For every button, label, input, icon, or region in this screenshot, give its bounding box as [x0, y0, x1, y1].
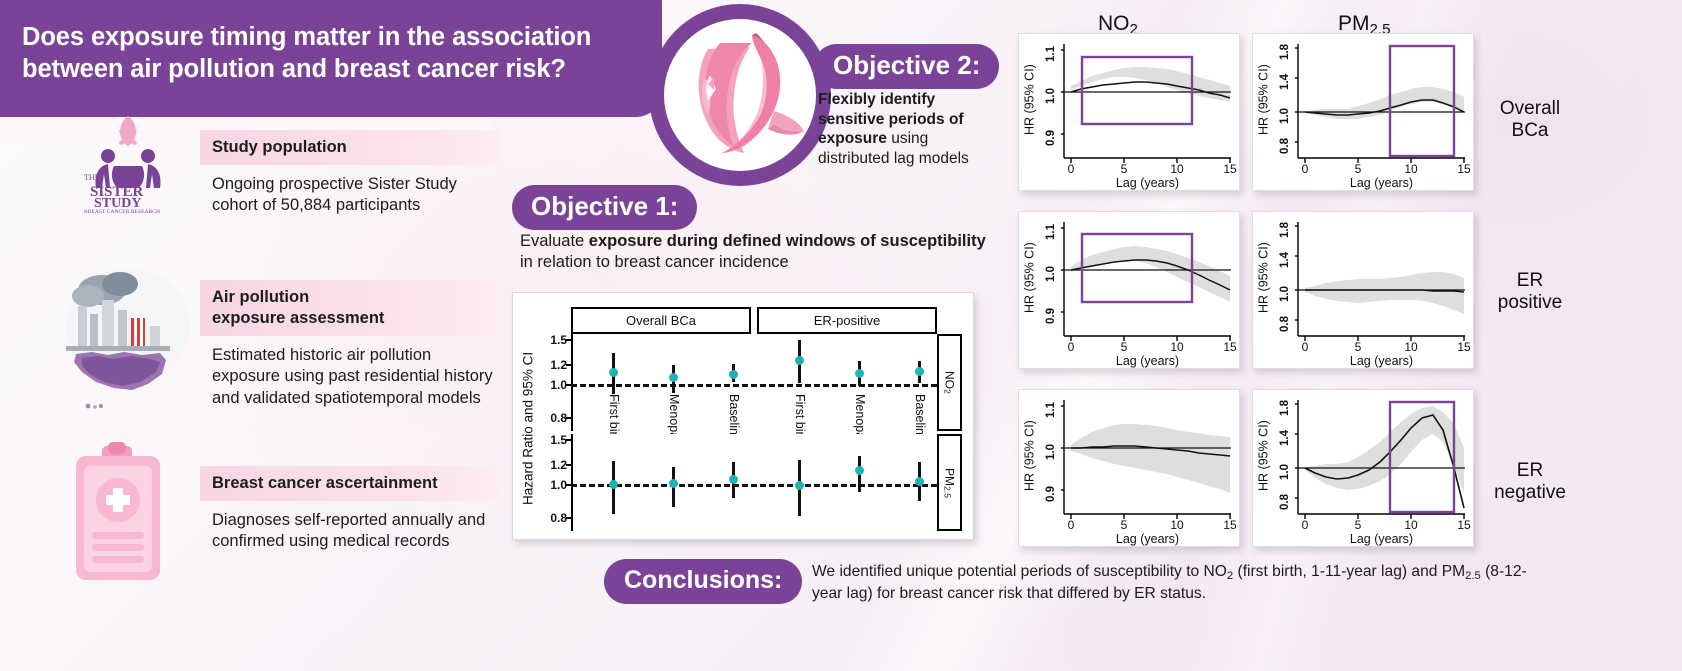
forest-strip-no2-label: NO2 [942, 371, 956, 394]
conclusions-part-b: (first birth, 1-11-year lag) and PM [1233, 563, 1465, 580]
dlnm-xtick-pm25-erpos-5: 5 [1347, 340, 1369, 354]
forest-panel-no2: 1.5 1.2 1.0 0.8 First birth Menopause Ba… [571, 334, 937, 431]
dlnm-xtick-no2-overall-15: 15 [1219, 162, 1241, 176]
dlnm-xtick-no2-erneg-15: 15 [1219, 518, 1241, 532]
page-title-line2: between air pollution and breast cancer … [22, 53, 662, 85]
dlnm-xtick-no2-overall-5: 5 [1113, 162, 1135, 176]
forest-ytick-1-2: 1.2 [537, 358, 567, 372]
forest-point-no2-overall-firstbirth [609, 368, 618, 377]
forest-point-pm25-erpos-baseline [915, 477, 924, 486]
conclusions-pill: Conclusions: [604, 559, 802, 604]
dlnm-xtick-no2-erpos-15: 15 [1219, 340, 1241, 354]
forest-strip-erpos: ER-positive [757, 307, 937, 334]
objective-1-text: Evaluate exposure during defined windows… [520, 231, 990, 274]
dlnm-xtick-pm25-erneg-0: 0 [1294, 518, 1316, 532]
section-body-ascertainment: Diagnoses self-reported annually and con… [200, 501, 500, 553]
dlnm-xlabel-no2-overall: Lag (years) [1064, 176, 1231, 190]
dlnm-panel-pm25-overall: HR (95% CI) 1.8 1.4 1.0 0.8 0 5 10 15 La… [1252, 33, 1474, 191]
dlnm-xlabel-pm25-overall: Lag (years) [1298, 176, 1465, 190]
forest-point-no2-overall-menopause [669, 373, 678, 382]
dlnm-xtick-pm25-erneg-5: 5 [1347, 518, 1369, 532]
medical-clipboard-icon [62, 440, 194, 590]
sister-study-text-3: BREAST CANCER RESEARCH [84, 209, 160, 214]
forest-ytick2-1-2: 1.2 [537, 458, 567, 472]
forest-ytick-0-8: 0.8 [537, 411, 567, 425]
sister-study-text-top: THE [84, 173, 100, 182]
dlnm-xtick-no2-overall-0: 0 [1060, 162, 1082, 176]
objective-1-bold: exposure during defined windows of susce… [589, 232, 986, 250]
objective-2-text: Flexibly identify sensitive periods of e… [818, 90, 1004, 168]
study-section-population: Study population Ongoing prospective Sis… [200, 130, 500, 217]
dlnm-xlabel-no2-erpos: Lag (years) [1064, 354, 1231, 368]
conclusions-part-a: We identified unique potential periods o… [812, 563, 1227, 580]
conclusions-text: We identified unique potential periods o… [812, 562, 1552, 604]
dlnm-xtick-pm25-overall-10: 10 [1400, 162, 1422, 176]
conclusions-sub-pm25: 2.5 [1465, 570, 1481, 582]
forest-plot-card: Hazard Ratio and 95% CI Overall BCa ER-p… [512, 292, 974, 540]
section-heading-population: Study population [200, 130, 500, 165]
forest-reference-line-no2 [571, 384, 937, 387]
forest-strip-no2: NO2 [937, 334, 962, 431]
section-heading-exposure: Air pollution exposure assessment [200, 280, 500, 336]
dlnm-panel-pm25-erneg: HR (95% CI) 1.8 1.4 1.0 0.8 0 5 10 15 La… [1252, 389, 1474, 547]
forest-point-no2-erpos-baseline [915, 367, 924, 376]
forest-panel-pm25: 1.5 1.2 1.0 0.8 [571, 434, 937, 531]
section-heading-exposure-line1: Air pollution [212, 287, 500, 308]
dlnm-xtick-no2-erpos-5: 5 [1113, 340, 1135, 354]
dlnm-xtick-pm25-erneg-10: 10 [1400, 518, 1422, 532]
forest-strip-pm25: PM2.5 [937, 434, 962, 531]
forest-point-pm25-erpos-menopause [855, 466, 864, 475]
forest-point-no2-erpos-firstbirth [795, 356, 804, 365]
dlnm-xtick-pm25-erpos-0: 0 [1294, 340, 1316, 354]
dlnm-panel-no2-overall: HR (95% CI) 1.1 1.0 0.9 0 5 10 15 Lag (y… [1018, 33, 1240, 191]
section-body-exposure: Estimated historic air pollution exposur… [200, 336, 500, 410]
dlnm-xtick-no2-erpos-0: 0 [1060, 340, 1082, 354]
forest-strip-pm25-label: PM2.5 [942, 468, 956, 498]
dlnm-xtick-pm25-erpos-10: 10 [1400, 340, 1422, 354]
objective-2-pill: Objective 2: [814, 44, 999, 89]
forest-ytick2-0-8: 0.8 [537, 511, 567, 525]
sister-study-logo-svg: THE SISTER STUDY BREAST CANCER RESEARCH [62, 108, 194, 214]
objective-1-pill: Objective 1: [512, 185, 697, 230]
dlnm-panel-no2-erneg: HR (95% CI) 1.1 1.0 0.9 0 5 10 15 Lag (y… [1018, 389, 1240, 547]
dlnm-panel-pm25-erpos: HR (95% CI) 1.8 1.4 1.0 0.8 0 5 10 15 La… [1252, 211, 1474, 369]
sister-study-logo: THE SISTER STUDY BREAST CANCER RESEARCH [62, 108, 194, 214]
forest-y-axis-label: Hazard Ratio and 95% CI [519, 323, 537, 533]
objective-1-pre: Evaluate [520, 232, 589, 250]
forest-point-pm25-erpos-firstbirth [795, 481, 804, 490]
study-section-exposure: Air pollution exposure assessment Estima… [200, 280, 500, 409]
forest-point-pm25-overall-firstbirth [609, 480, 618, 489]
air-pollution-icon-svg [62, 256, 212, 416]
section-heading-ascertainment: Breast cancer ascertainment [200, 466, 500, 501]
dlnm-xtick-pm25-overall-5: 5 [1347, 162, 1369, 176]
dlnm-xtick-pm25-erneg-15: 15 [1453, 518, 1475, 532]
header-banner: Does exposure timing matter in the assoc… [0, 0, 662, 117]
dlnm-xtick-no2-overall-10: 10 [1166, 162, 1188, 176]
dlnm-panel-no2-erpos: HR (95% CI) 1.1 1.0 0.9 0 5 10 15 Lag (y… [1018, 211, 1240, 369]
dlnm-row-label-overall: OverallBCa [1482, 98, 1578, 143]
factory-smokestack-usmap-icon [62, 256, 194, 416]
forest-point-no2-erpos-menopause [855, 369, 864, 378]
dlnm-row-label-erneg: ERnegative [1482, 460, 1578, 505]
forest-point-no2-overall-baseline [729, 370, 738, 379]
study-section-ascertainment: Breast cancer ascertainment Diagnoses se… [200, 466, 500, 553]
clipboard-icon-svg [62, 440, 184, 590]
section-body-population: Ongoing prospective Sister Study cohort … [200, 165, 500, 217]
ribbon-woman-svg [664, 19, 816, 171]
forest-ytick2-1-5: 1.5 [537, 433, 567, 447]
dlnm-xtick-no2-erpos-10: 10 [1166, 340, 1188, 354]
forest-strip-overall: Overall BCa [571, 307, 751, 334]
dlnm-xtick-pm25-overall-0: 0 [1294, 162, 1316, 176]
forest-point-pm25-overall-menopause [669, 479, 678, 488]
page-title: Does exposure timing matter in the assoc… [0, 0, 662, 85]
forest-reference-line-pm25 [571, 484, 937, 487]
dlnm-xtick-no2-erneg-0: 0 [1060, 518, 1082, 532]
dlnm-xtick-no2-erneg-10: 10 [1166, 518, 1188, 532]
dlnm-xlabel-no2-erneg: Lag (years) [1064, 532, 1231, 546]
forest-ytick2-1-0: 1.0 [537, 478, 567, 492]
objective-1-post: in relation to breast cancer incidence [520, 253, 789, 271]
section-heading-exposure-line2: exposure assessment [212, 308, 500, 329]
forest-point-pm25-overall-baseline [729, 475, 738, 484]
forest-ytick-1-0: 1.0 [537, 378, 567, 392]
dlnm-xtick-pm25-overall-15: 15 [1453, 162, 1475, 176]
dlnm-xtick-no2-erneg-5: 5 [1113, 518, 1135, 532]
dlnm-xlabel-pm25-erneg: Lag (years) [1298, 532, 1465, 546]
page-title-line1: Does exposure timing matter in the assoc… [22, 21, 662, 53]
dlnm-xlabel-pm25-erpos: Lag (years) [1298, 354, 1465, 368]
dlnm-row-label-erpos: ERpositive [1482, 270, 1578, 315]
forest-ytick-1-5: 1.5 [537, 333, 567, 347]
pink-ribbon-woman-icon [649, 4, 831, 186]
dlnm-xtick-pm25-erpos-15: 15 [1453, 340, 1475, 354]
